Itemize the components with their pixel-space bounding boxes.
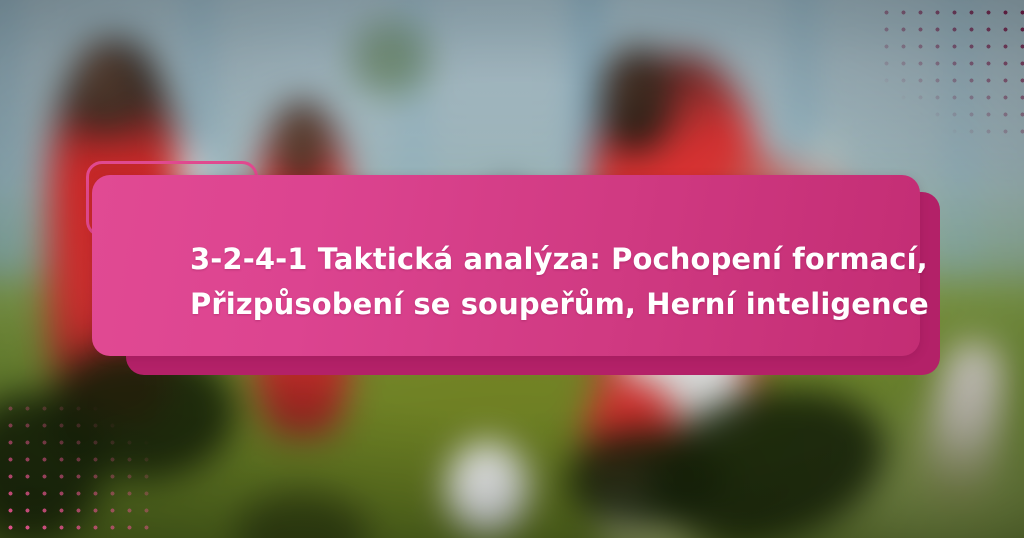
fence-post bbox=[954, 0, 968, 318]
foreground-foliage bbox=[567, 430, 722, 529]
player-head bbox=[600, 47, 672, 152]
hero-banner: 3-2-4-1 Taktická analýza: Pochopení form… bbox=[0, 0, 1024, 538]
page-title: 3-2-4-1 Taktická analýza: Pochopení form… bbox=[190, 237, 890, 327]
fence-post bbox=[0, 0, 11, 318]
football-ball bbox=[446, 442, 529, 535]
distant-tree bbox=[352, 22, 429, 96]
fence-rail bbox=[0, 16, 1024, 35]
title-card: 3-2-4-1 Taktická analýza: Pochopení form… bbox=[92, 175, 920, 356]
page-title-line-2: Přizpůsobení se soupeřům, Herní intelige… bbox=[190, 282, 890, 327]
player-head bbox=[75, 40, 137, 133]
page-title-line-1: 3-2-4-1 Taktická analýza: Pochopení form… bbox=[190, 237, 890, 282]
